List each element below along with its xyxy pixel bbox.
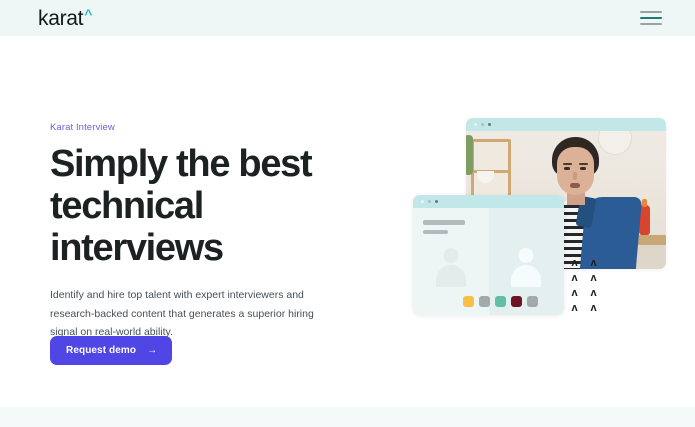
- window-dot-maximize-icon: [488, 123, 491, 126]
- panel-panes: [413, 208, 564, 315]
- logo-caret-icon: ^: [84, 7, 92, 21]
- request-demo-label: Request demo: [66, 345, 136, 356]
- avatar-body: [511, 265, 541, 287]
- window-dot-close-icon: [421, 200, 424, 203]
- caret-icon: ʌ: [565, 258, 584, 269]
- hero-eyebrow: Karat Interview: [50, 122, 380, 133]
- color-dots-row: [463, 296, 538, 307]
- person-nose: [573, 172, 577, 180]
- caret-icon: ʌ: [584, 258, 603, 269]
- headline-line-2: technical interviews: [50, 186, 380, 270]
- color-dot: [511, 296, 522, 307]
- avatar: [509, 248, 543, 286]
- avatar-head: [443, 248, 458, 263]
- request-demo-button[interactable]: Request demo →: [50, 336, 172, 365]
- window-dot-minimize-icon: [481, 123, 484, 126]
- hamburger-bar-middle: [640, 17, 662, 19]
- avatar-body: [436, 265, 466, 287]
- hamburger-menu-icon[interactable]: [640, 11, 662, 25]
- arrow-right-icon: →: [147, 346, 157, 356]
- caret-icon: ʌ: [584, 288, 603, 299]
- caret-pattern-grid: ʌʌʌʌʌʌʌʌ: [565, 258, 603, 314]
- color-dot: [479, 296, 490, 307]
- avatar-head: [519, 248, 534, 263]
- window-dot-maximize-icon: [435, 200, 438, 203]
- karat-logo[interactable]: karat ^: [38, 8, 92, 29]
- hero-graphic: ʌʌʌʌʌʌʌʌ: [405, 110, 695, 325]
- window-dot-minimize-icon: [428, 200, 431, 203]
- caret-icon: ʌ: [565, 288, 584, 299]
- placeholder-text-bars: [423, 220, 465, 239]
- color-dot: [527, 296, 538, 307]
- video-window-titlebar: [466, 118, 666, 131]
- color-dot: [463, 296, 474, 307]
- plant-decor: [466, 135, 473, 175]
- page-root: karat ^ Karat Interview Simply the best …: [0, 0, 695, 427]
- person-eye-left: [564, 167, 570, 170]
- page-title: Simply the best technical interviews: [50, 144, 380, 269]
- interview-panel-window: [413, 195, 564, 315]
- placeholder-bar: [423, 230, 448, 235]
- placeholder-bar: [423, 220, 465, 225]
- color-dot: [495, 296, 506, 307]
- hamburger-bar-top: [640, 11, 662, 13]
- person-brow-right: [579, 163, 588, 165]
- hero-subcopy: Identify and hire top talent with expert…: [50, 286, 328, 341]
- caret-icon: ʌ: [584, 303, 603, 314]
- avatar: [434, 248, 468, 286]
- window-dot-close-icon: [474, 123, 477, 126]
- hamburger-bar-bottom: [640, 23, 662, 25]
- caret-icon: ʌ: [565, 273, 584, 284]
- person-mouth: [570, 183, 580, 188]
- caret-icon: ʌ: [565, 303, 584, 314]
- person-eye-right: [580, 167, 586, 170]
- person-brow-left: [563, 163, 572, 165]
- logo-wordmark: karat: [38, 8, 83, 29]
- panel-window-titlebar: [413, 195, 564, 208]
- hero-text-block: Karat Interview Simply the best technica…: [50, 122, 380, 342]
- site-header: karat ^: [0, 0, 695, 36]
- headline-line-1: Simply the best: [50, 143, 311, 185]
- caret-icon: ʌ: [584, 273, 603, 284]
- bottle-cap-decor: [642, 199, 647, 207]
- bottom-band: [0, 407, 695, 427]
